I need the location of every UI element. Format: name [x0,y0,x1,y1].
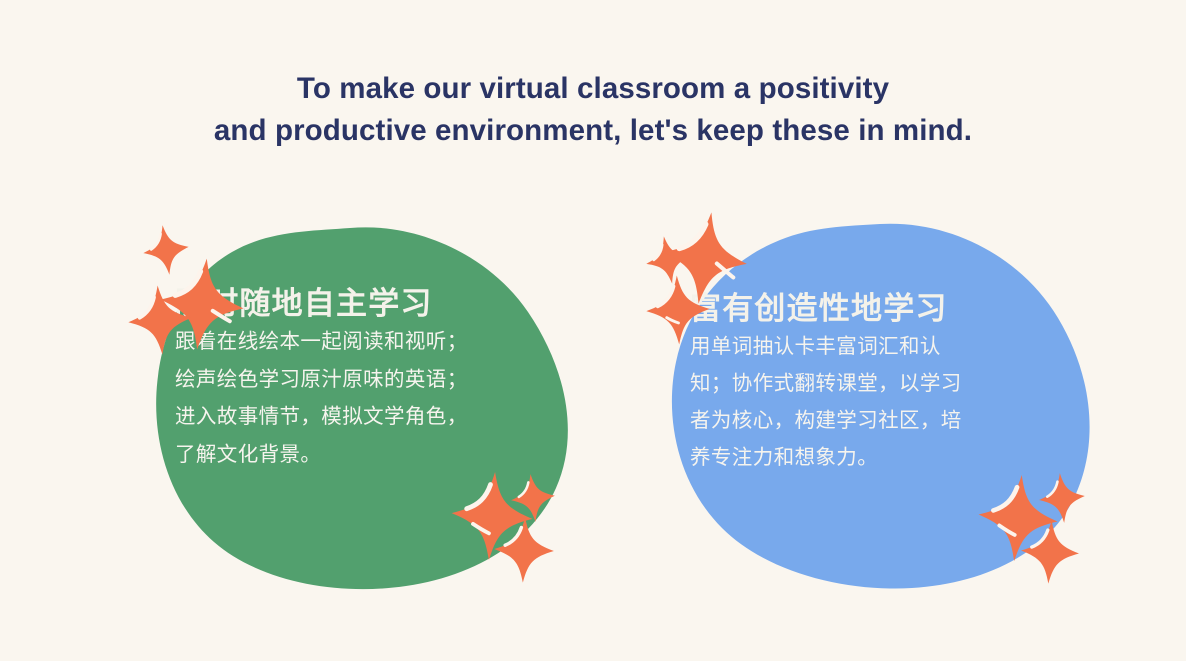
content-card-green: 随时随地自主学习 跟着在线绘本一起阅读和视听； 绘声绘色学习原汁原味的英语； 进… [118,210,588,610]
green-card-title: 随时随地自主学习 [175,285,575,323]
blue-card-body: 用单词抽认卡丰富词汇和认 知；协作式翻转课堂，以学习 者为核心，构建学习社区，培… [690,328,1070,476]
blue-body-line-4: 养专注力和想象力。 [690,439,1070,476]
blue-card-text-block: 富有创造性地学习 用单词抽认卡丰富词汇和认 知；协作式翻转课堂，以学习 者为核心… [690,290,1070,476]
green-body-line-3: 进入故事情节，模拟文学角色， [175,398,575,436]
green-body-line-1: 跟着在线绘本一起阅读和视听； [175,323,575,361]
headline-line-2: and productive environment, let's keep t… [0,110,1186,152]
green-body-line-4: 了解文化背景。 [175,436,575,474]
blue-card-title: 富有创造性地学习 [690,290,1070,328]
slide-canvas: To make our virtual classroom a positivi… [0,0,1186,661]
green-card-body: 跟着在线绘本一起阅读和视听； 绘声绘色学习原汁原味的英语； 进入故事情节，模拟文… [175,323,575,473]
blue-body-line-2: 知；协作式翻转课堂，以学习 [690,365,1070,402]
blue-body-line-1: 用单词抽认卡丰富词汇和认 [690,328,1070,365]
green-card-text-block: 随时随地自主学习 跟着在线绘本一起阅读和视听； 绘声绘色学习原汁原味的英语； 进… [175,285,575,473]
blue-body-line-3: 者为核心，构建学习社区，培 [690,402,1070,439]
green-body-line-2: 绘声绘色学习原汁原味的英语； [175,361,575,399]
content-card-blue: 富有创造性地学习 用单词抽认卡丰富词汇和认 知；协作式翻转课堂，以学习 者为核心… [630,210,1110,610]
headline-line-1: To make our virtual classroom a positivi… [0,68,1186,110]
page-title: To make our virtual classroom a positivi… [0,68,1186,152]
